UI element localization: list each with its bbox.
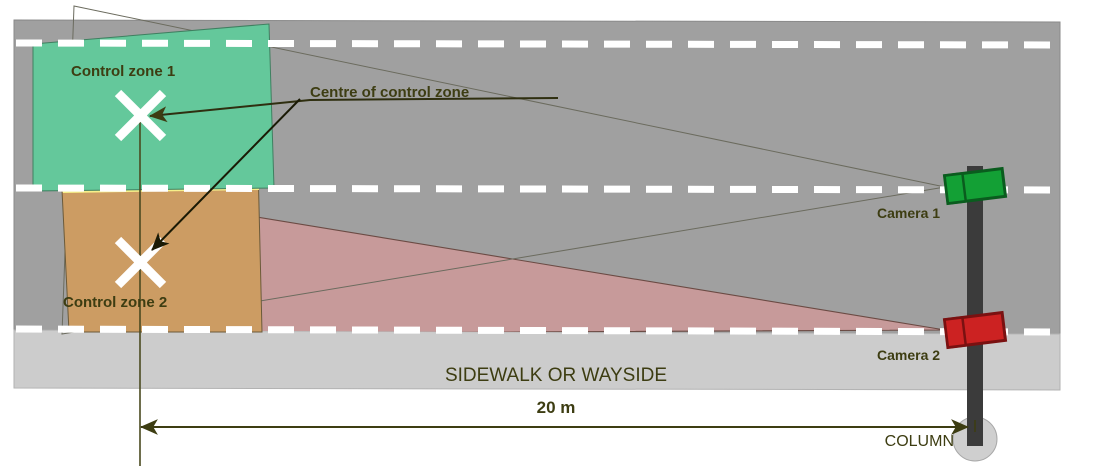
control-zone-2-label: Control zone 2 xyxy=(63,294,167,311)
dimension-line-group: 20 m xyxy=(141,398,975,432)
camera-1-lens-block xyxy=(945,173,966,203)
control-zone-1-label: Control zone 1 xyxy=(71,63,175,80)
camera-2-lens-block xyxy=(945,317,966,347)
camera-2-label: Camera 2 xyxy=(877,347,940,363)
dimension-label-20m: 20 m xyxy=(537,398,576,417)
scene-canvas: SIDEWALK OR WAYSIDE xyxy=(0,0,1094,466)
centre-of-control-zone-label: Centre of control zone xyxy=(310,84,469,101)
column-label: COLUMN xyxy=(885,433,954,450)
camera-1-label: Camera 1 xyxy=(877,205,940,221)
control-zone-diagram: SIDEWALK OR WAYSIDE xyxy=(0,0,1094,466)
camera-1-icon[interactable] xyxy=(945,169,1006,204)
column-pole xyxy=(967,166,983,446)
camera-2-icon[interactable] xyxy=(945,313,1006,348)
sidewalk-label: SIDEWALK OR WAYSIDE xyxy=(445,365,667,386)
